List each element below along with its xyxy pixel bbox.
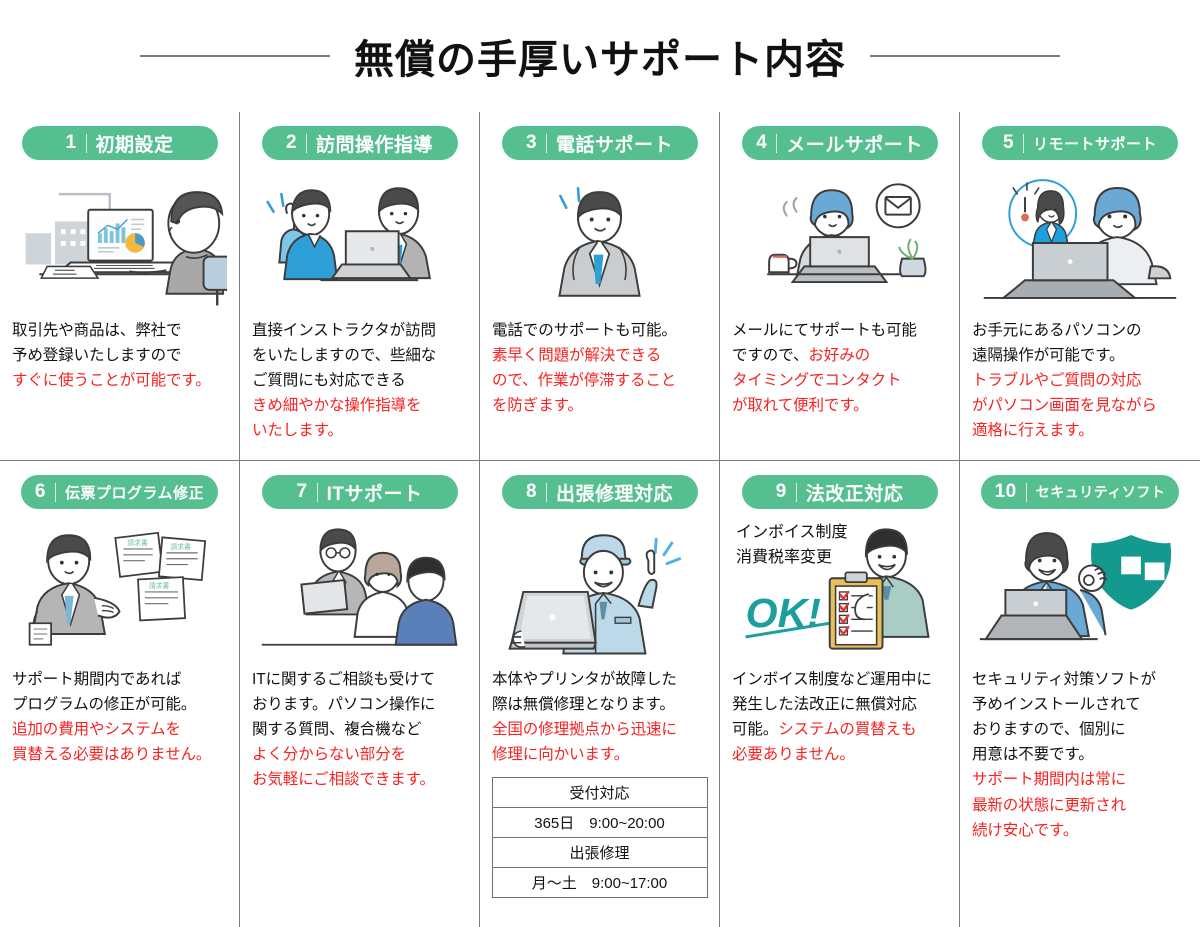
body-line: 本体やプリンタが故障した [492, 667, 707, 692]
support-card-9[interactable]: 9 法改正対応 インボイス制度 消費税率変更 OK! [720, 460, 960, 927]
body-line: メールにてサポートも可能 [732, 318, 947, 343]
card-badge-1: 1 初期設定 [22, 126, 218, 160]
table-cell-onsite-hours: 月〜土 9:00~17:00 [492, 868, 707, 898]
body-line: 際は無償修理となります。 [492, 692, 707, 717]
body-line: 直接インストラクタが訪問 [252, 318, 467, 343]
card-number-2: 2 [286, 132, 297, 154]
card-body-6: サポート期間内であれば プログラムの修正が可能。 追加の費用やシステムを 買替え… [12, 667, 227, 767]
card-9-overlay-labels: インボイス制度 消費税率変更 [736, 521, 848, 571]
body-line: 可能。システムの買替えも [732, 717, 947, 742]
body-line: インボイス制度など運用中に [732, 667, 947, 692]
card-number-8: 8 [526, 481, 537, 503]
support-card-4[interactable]: 4 メールサポート [720, 112, 960, 460]
illustration-man-with-checklist-clipboard-ok: インボイス制度 消費税率変更 OK! [732, 519, 947, 661]
card-label-4: メールサポート [786, 130, 923, 157]
card-number-9: 9 [776, 481, 787, 503]
page-title: 無償の手厚いサポート内容 [354, 27, 846, 85]
body-line: 追加の費用やシステムを [12, 717, 227, 742]
body-line: 電話でのサポートも可能。 [492, 318, 707, 343]
body-line: プログラムの修正が可能。 [12, 692, 227, 717]
body-line: 適格に行えます。 [972, 418, 1188, 443]
badge-separator-icon [796, 483, 797, 502]
card-body-10: セキュリティ対策ソフトが 予めインストールされて おりますので、個別に 用意は不… [972, 667, 1188, 843]
support-card-7[interactable]: 7 ITサポート ITに関するご相談も受け [240, 460, 480, 927]
card-badge-9: 9 法改正対応 [742, 475, 938, 509]
card-body-5: お手元にあるパソコンの 遠隔操作が可能です。 トラブルやご質問の対応 がパソコン… [972, 318, 1188, 444]
card-label-6: 伝票プログラム修正 [65, 482, 204, 503]
illustration-man-presenting-invoice-documents: 請求書請求書請求書 [12, 519, 227, 661]
card-body-7: ITに関するご相談も受けて おります。パソコン操作に 関する質問、複合機など よ… [252, 667, 467, 793]
badge-separator-icon [546, 483, 547, 502]
card-body-2: 直接インストラクタが訪問 をいたしますので、些細な ご質問にも対応できる きめ細… [252, 318, 467, 444]
body-line: いたします。 [252, 418, 467, 443]
support-card-3[interactable]: 3 電話サポート 電話でのサポートも可能。 素早く問題が解決できる ので、作業が… [480, 112, 720, 460]
title-rule-left [140, 55, 330, 57]
body-line: がパソコン画面を見ながら [972, 393, 1188, 418]
card-badge-2: 2 訪問操作指導 [262, 126, 458, 160]
body-line: 予めインストールされて [972, 692, 1188, 717]
support-card-8[interactable]: 8 出張修理対応 [480, 460, 720, 927]
card-label-3: 電話サポート [556, 130, 673, 157]
card-number-10: 10 [995, 481, 1017, 503]
illustration-woman-at-laptop-with-envelope [732, 170, 947, 312]
body-line: すぐに使うことが可能です。 [12, 368, 227, 393]
card-badge-8: 8 出張修理対応 [502, 475, 698, 509]
card-badge-6: 6 伝票プログラム修正 [21, 475, 218, 509]
body-line: おります。パソコン操作に [252, 692, 467, 717]
card-label-7: ITサポート [327, 479, 423, 506]
body-line: ITに関するご相談も受けて [252, 667, 467, 692]
body-line: 全国の修理拠点から迅速に [492, 717, 707, 742]
badge-separator-icon [55, 483, 56, 502]
body-line: 取引先や商品は、弊社で [12, 318, 227, 343]
badge-separator-icon [306, 134, 307, 153]
page-title-bar: 無償の手厚いサポート内容 [0, 0, 1200, 112]
body-line: サポート期間内であれば [12, 667, 227, 692]
card-label-1: 初期設定 [96, 130, 174, 157]
illustration-person-at-desk-with-laptop-charts [12, 170, 227, 312]
card-body-1: 取引先や商品は、弊社で 予め登録いたしますので すぐに使うことが可能です。 [12, 318, 227, 393]
body-line: 用意は不要です。 [972, 742, 1188, 767]
card-label-9: 法改正対応 [806, 479, 904, 506]
body-line: お気軽にご相談できます。 [252, 767, 467, 792]
body-line: 予め登録いたしますので [12, 343, 227, 368]
support-card-5[interactable]: 5 リモートサポート [960, 112, 1200, 460]
card-badge-10: 10 セキュリティソフト [981, 475, 1180, 509]
body-line: タイミングでコンタクト [732, 368, 947, 393]
body-line: 続け安心です。 [972, 818, 1188, 843]
badge-separator-icon [1026, 483, 1027, 502]
badge-separator-icon [776, 134, 777, 153]
support-card-6[interactable]: 6 伝票プログラム修正 請求書請求書請求書 [0, 460, 240, 927]
card-badge-5: 5 リモートサポート [982, 126, 1178, 160]
body-line: 発生した法改正に無償対応 [732, 692, 947, 717]
illustration-woman-laptop-video-call-bubble [972, 170, 1188, 312]
body-line: 素早く問題が解決できる [492, 343, 707, 368]
overlay-label-tax-rate: 消費税率変更 [736, 546, 848, 571]
illustration-technician-holding-laptop-pointing-up [492, 519, 707, 661]
card-number-4: 4 [756, 132, 767, 154]
card-number-3: 3 [526, 132, 537, 154]
table-row: 365日 9:00~20:00 [492, 808, 707, 838]
card-badge-3: 3 電話サポート [502, 126, 698, 160]
card-label-8: 出張修理対応 [556, 479, 673, 506]
svg-text:請求書: 請求書 [127, 538, 148, 547]
badge-separator-icon [1023, 134, 1024, 153]
ok-text: OK! [746, 590, 821, 636]
card-number-1: 1 [65, 132, 76, 154]
card-number-6: 6 [35, 481, 46, 503]
body-line: ですので、お好みの [732, 343, 947, 368]
card-label-2: 訪問操作指導 [316, 130, 433, 157]
card-body-3: 電話でのサポートも可能。 素早く問題が解決できる ので、作業が停滞すること を防… [492, 318, 707, 418]
body-line: 関する質問、複合機など [252, 717, 467, 742]
card-badge-4: 4 メールサポート [742, 126, 938, 160]
body-line: トラブルやご質問の対応 [972, 368, 1188, 393]
card-body-4: メールにてサポートも可能 ですので、お好みの タイミングでコンタクト が取れて便… [732, 318, 947, 418]
card-label-10: セキュリティソフト [1036, 482, 1166, 502]
card-body-9: インボイス制度など運用中に 発生した法改正に無償対応 可能。システムの買替えも … [732, 667, 947, 767]
illustration-woman-laptop-ok-sign-shield [972, 519, 1188, 661]
body-line: よく分からない部分を [252, 742, 467, 767]
body-line: 最新の状態に更新され [972, 793, 1188, 818]
illustration-three-people-it-consultation-tablet [252, 519, 467, 661]
badge-separator-icon [317, 483, 318, 502]
body-line: 必要ありません。 [732, 742, 947, 767]
table-row: 出張修理 [492, 838, 707, 868]
body-line: 買替える必要はありません。 [12, 742, 227, 767]
card-number-7: 7 [297, 481, 308, 503]
body-line: 遠隔操作が可能です。 [972, 343, 1188, 368]
body-line: が取れて便利です。 [732, 393, 947, 418]
body-line: を防ぎます。 [492, 393, 707, 418]
table-cell-onsite-header: 出張修理 [492, 838, 707, 868]
body-line: をいたしますので、些細な [252, 343, 467, 368]
body-line: セキュリティ対策ソフトが [972, 667, 1188, 692]
card-badge-7: 7 ITサポート [262, 475, 458, 509]
body-line: お手元にあるパソコンの [972, 318, 1188, 343]
card-label-5: リモートサポート [1033, 133, 1157, 154]
support-card-2[interactable]: 2 訪問操作指導 [240, 112, 480, 460]
body-line: ご質問にも対応できる [252, 368, 467, 393]
overlay-label-invoice: インボイス制度 [736, 521, 848, 546]
body-line: サポート期間内は常に [972, 767, 1188, 792]
card-number-5: 5 [1003, 132, 1014, 154]
illustration-two-people-instructor-visit-laptop [252, 170, 467, 312]
support-hours-table: 受付対応 365日 9:00~20:00 出張修理 月〜土 9:00~17:00 [492, 777, 708, 898]
table-row: 月〜土 9:00~17:00 [492, 868, 707, 898]
svg-text:請求書: 請求書 [149, 581, 170, 590]
badge-separator-icon [86, 134, 87, 153]
title-rule-right [870, 55, 1060, 57]
support-card-grid: 1 初期設定 [0, 112, 1200, 927]
table-cell-reception-hours: 365日 9:00~20:00 [492, 808, 707, 838]
body-line: ので、作業が停滞すること [492, 368, 707, 393]
support-card-10[interactable]: 10 セキュリティソフト [960, 460, 1200, 927]
card-body-8: 本体やプリンタが故障した 際は無償修理となります。 全国の修理拠点から迅速に 修… [492, 667, 707, 767]
svg-text:請求書: 請求書 [170, 542, 191, 551]
table-cell-reception-header: 受付対応 [492, 778, 707, 808]
table-row: 受付対応 [492, 778, 707, 808]
body-line: 修理に向かいます。 [492, 742, 707, 767]
body-line: きめ細やかな操作指導を [252, 393, 467, 418]
badge-separator-icon [546, 134, 547, 153]
illustration-man-with-phone-headset-support [492, 170, 707, 312]
body-line: おりますので、個別に [972, 717, 1188, 742]
support-card-1[interactable]: 1 初期設定 [0, 112, 240, 460]
